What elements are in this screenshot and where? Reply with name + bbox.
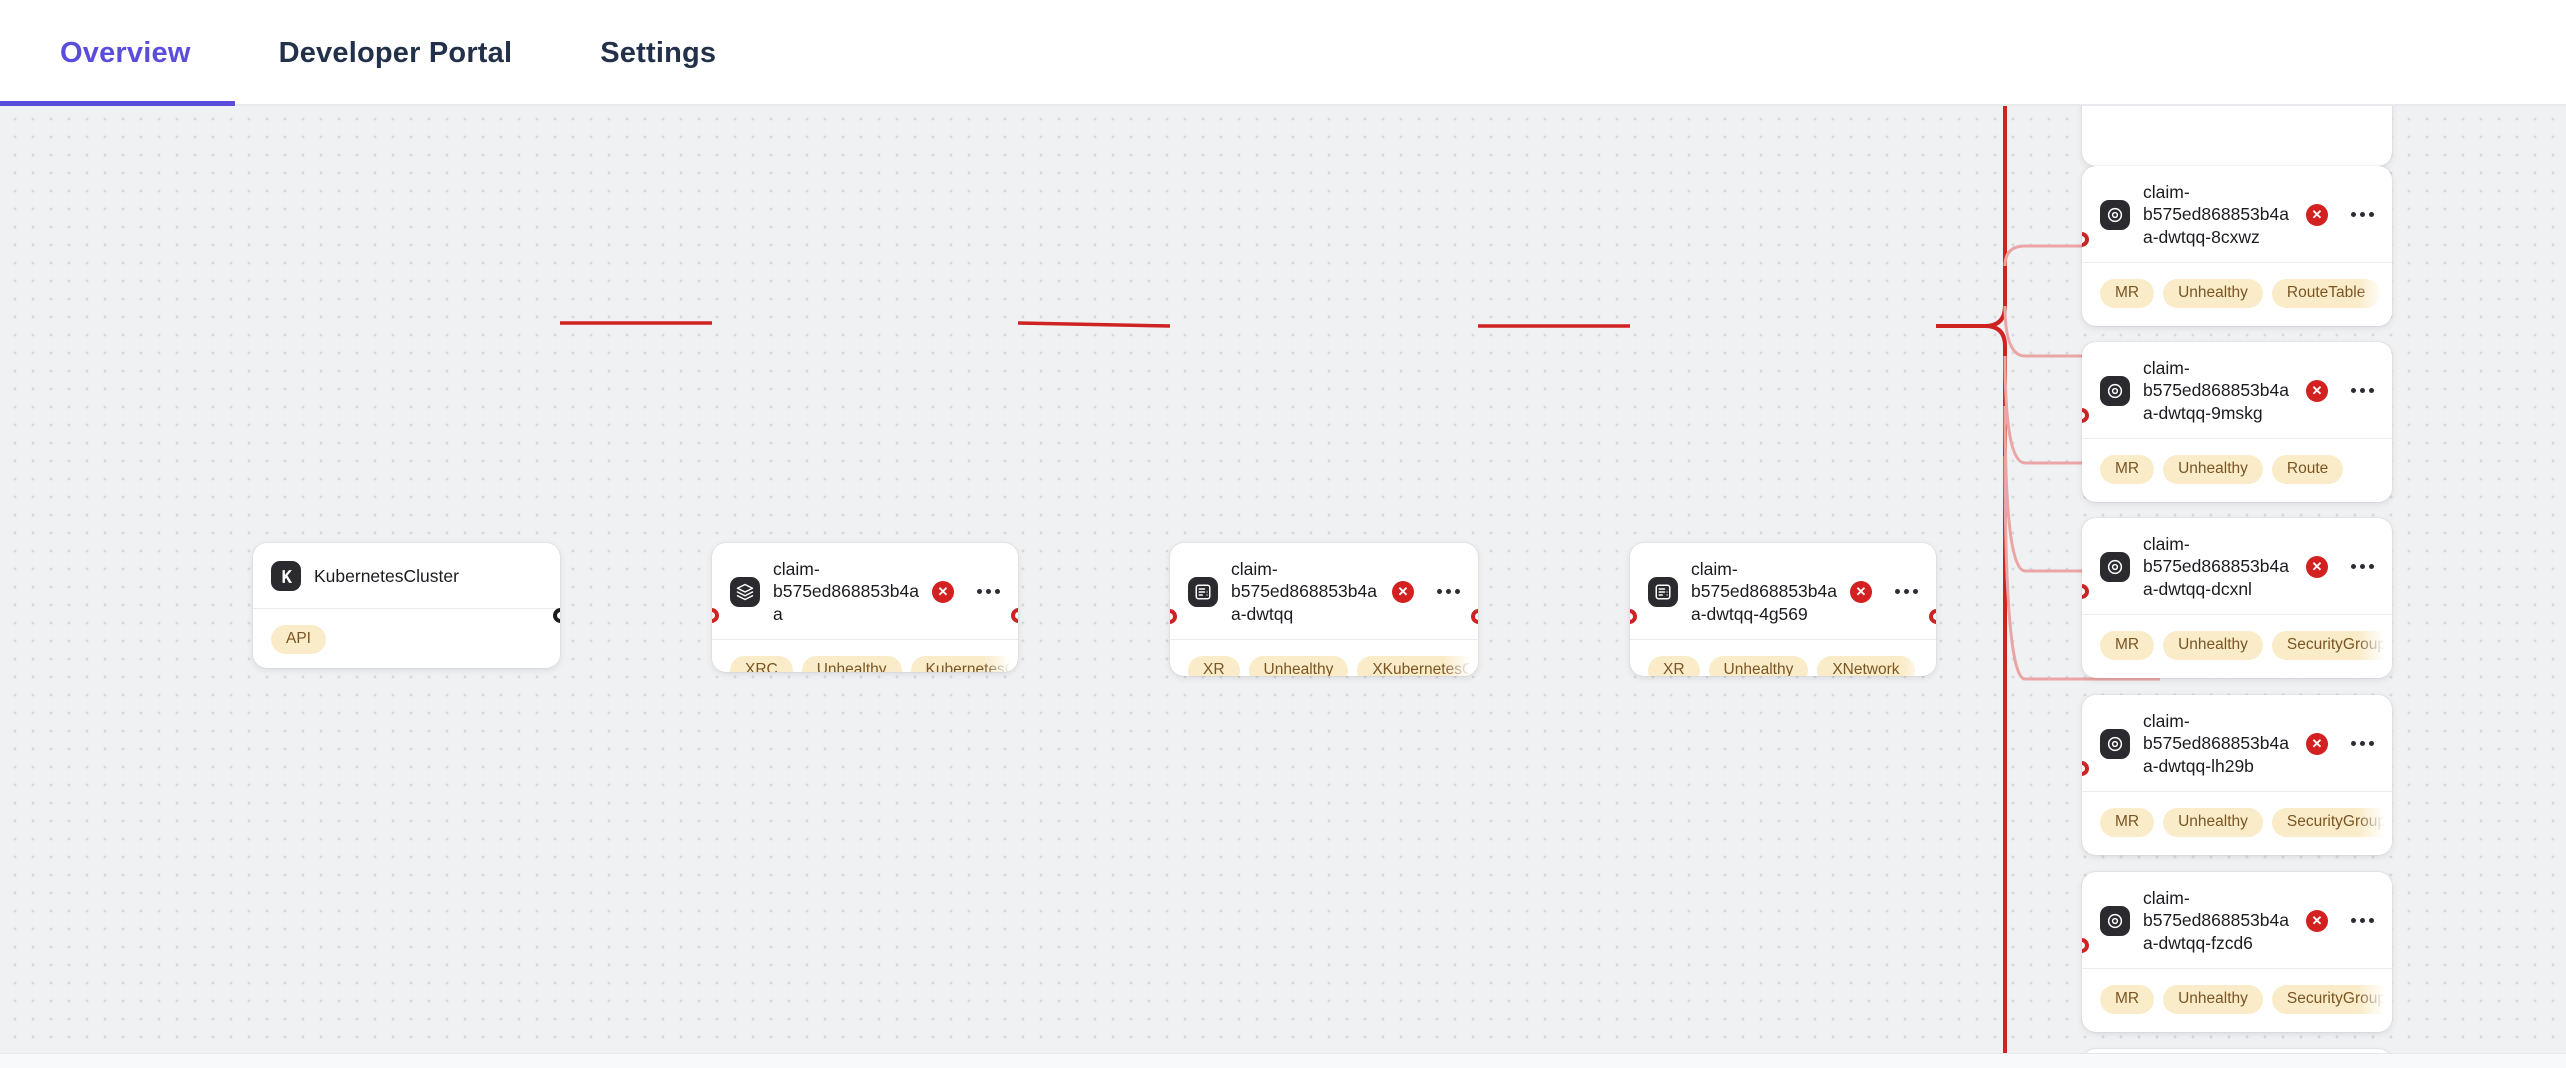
tab-developer-portal[interactable]: Developer Portal [235, 0, 557, 106]
node-menu-button[interactable] [967, 583, 1002, 600]
target-dot-icon [2100, 729, 2130, 759]
target-dot-icon [2100, 200, 2130, 230]
tab-settings[interactable]: Settings [556, 0, 760, 106]
error-badge[interactable]: ✕ [2306, 910, 2328, 932]
chip-type[interactable]: XKubernetesCluster [1357, 656, 1478, 676]
node-kubernetescluster[interactable]: KubernetesCluster API [253, 543, 560, 668]
node-title: claim-b575ed868853b4aa-dwtqq-dcxnl [2143, 533, 2293, 600]
node-menu-button[interactable] [2341, 382, 2376, 399]
node-header: claim-b575ed868853b4aa ✕ [712, 543, 1018, 640]
node-header: claim-b575ed868853b4aa-dwtqq-4g569 ✕ [1630, 543, 1936, 640]
node-menu-button[interactable] [2341, 912, 2376, 929]
node-claim-dwtqq-8cxwz[interactable]: claim-b575ed868853b4aa-dwtqq-8cxwz ✕ MR … [2082, 166, 2392, 326]
error-badge[interactable]: ✕ [1392, 581, 1414, 603]
chip-kind[interactable]: MR [2100, 455, 2154, 484]
node-header: claim-b575ed868853b4aa-dwtqq-8cxwz ✕ [2082, 166, 2392, 263]
main-tab-bar: Overview Developer Portal Settings [0, 0, 2566, 106]
node-claim-dwtqq-lh29b[interactable]: claim-b575ed868853b4aa-dwtqq-lh29b ✕ MR … [2082, 695, 2392, 855]
node-header: claim-b575ed868853b4aa-dwtqq-dcxnl ✕ [2082, 518, 2392, 615]
node-claim-dwtqq-fzcd6[interactable]: claim-b575ed868853b4aa-dwtqq-fzcd6 ✕ MR … [2082, 872, 2392, 1032]
chip-kind[interactable]: XR [1648, 656, 1700, 676]
tab-overview-label: Overview [60, 37, 191, 70]
chip-kind[interactable]: API [271, 625, 326, 654]
tab-settings-label: Settings [600, 37, 716, 70]
chip-status[interactable]: Unhealthy [2163, 631, 2263, 660]
chip-status[interactable]: Unhealthy [802, 656, 902, 672]
node-chips: XR Unhealthy XNetwork [1630, 640, 1936, 676]
node-chips: XR Unhealthy XKubernetesCluster [1170, 640, 1478, 676]
node-header: claim-b575ed868853b4aa-dwtqq-lh29b ✕ [2082, 695, 2392, 792]
node-chips: MR Unhealthy Route [2082, 439, 2392, 502]
chip-type[interactable]: Route [2272, 455, 2343, 484]
node-claim-b575ed868853b4aa[interactable]: claim-b575ed868853b4aa ✕ XRC Unhealthy K… [712, 543, 1018, 672]
chip-status[interactable]: Unhealthy [2163, 279, 2263, 308]
node-chips: MR Unhealthy SecurityGroupRule [2082, 792, 2392, 855]
node-claim-dwtqq-4g569[interactable]: claim-b575ed868853b4aa-dwtqq-4g569 ✕ XR … [1630, 543, 1936, 676]
chip-type[interactable]: SecurityGroupRule [2272, 808, 2392, 837]
chip-status[interactable]: Unhealthy [1249, 656, 1349, 676]
node-claim-dwtqq-9mskg[interactable]: claim-b575ed868853b4aa-dwtqq-9mskg ✕ MR … [2082, 342, 2392, 502]
target-dot-icon [2100, 552, 2130, 582]
node-chips: API [253, 609, 560, 668]
layers-icon [730, 577, 760, 607]
edge-trunk-up [1936, 106, 2005, 326]
error-badge[interactable]: ✕ [2306, 204, 2328, 226]
node-menu-button[interactable] [1427, 583, 1462, 600]
chip-kind[interactable]: MR [2100, 985, 2154, 1014]
chip-kind[interactable]: MR [2100, 808, 2154, 837]
chip-kind[interactable]: XRC [730, 656, 793, 672]
error-badge[interactable]: ✕ [1850, 581, 1872, 603]
node-claim-dwtqq[interactable]: claim-b575ed868853b4aa-dwtqq ✕ XR Unheal… [1170, 543, 1478, 676]
chip-kind[interactable]: XR [1188, 656, 1240, 676]
edge-chain-2 [1018, 323, 1170, 326]
node-menu-button[interactable] [1885, 583, 1920, 600]
chip-kind[interactable]: MR [2100, 631, 2154, 660]
node-chips: MR Unhealthy SecurityGroup [2082, 969, 2392, 1032]
error-badge[interactable]: ✕ [2306, 380, 2328, 402]
node-header: claim-b575ed868853b4aa-dwtqq-fzcd6 ✕ [2082, 872, 2392, 969]
tab-developer-portal-label: Developer Portal [279, 37, 513, 70]
error-badge[interactable]: ✕ [2306, 733, 2328, 755]
node-chips: XRC Unhealthy KubernetesCluster [712, 640, 1018, 672]
chip-status[interactable]: Unhealthy [2163, 455, 2263, 484]
chip-type[interactable]: RouteTable [2272, 279, 2380, 308]
list-icon [1188, 577, 1218, 607]
kubernetes-k-icon [271, 561, 301, 591]
edge-trunk-down [1936, 326, 2005, 1053]
node-title: claim-b575ed868853b4aa-dwtqq-4g569 [1691, 558, 1837, 625]
chip-type[interactable]: KubernetesCluster [911, 656, 1018, 672]
chip-type[interactable]: SecurityGroupRule [2272, 631, 2392, 660]
target-dot-icon [2100, 376, 2130, 406]
graph-canvas[interactable]: KubernetesCluster API claim-b575ed868853… [0, 106, 2566, 1053]
chip-status[interactable]: Unhealthy [1709, 656, 1809, 676]
chip-status[interactable]: Unhealthy [2163, 985, 2263, 1014]
node-title: claim-b575ed868853b4aa-dwtqq-8cxwz [2143, 181, 2293, 248]
tab-overview[interactable]: Overview [0, 0, 235, 106]
node-header: KubernetesCluster [253, 543, 560, 609]
error-badge[interactable]: ✕ [932, 581, 954, 603]
error-badge[interactable]: ✕ [2306, 556, 2328, 578]
node-claim-dwtqq-dcxnl[interactable]: claim-b575ed868853b4aa-dwtqq-dcxnl ✕ MR … [2082, 518, 2392, 678]
node-header: claim-b575ed868853b4aa-dwtqq ✕ [1170, 543, 1478, 640]
chip-type[interactable]: XNetwork [1817, 656, 1914, 676]
node-menu-button[interactable] [2341, 735, 2376, 752]
node-chips: MR Unhealthy RouteTable [2082, 263, 2392, 326]
target-dot-icon [2100, 906, 2130, 936]
chip-status[interactable]: Unhealthy [2163, 808, 2263, 837]
node-partial-top[interactable] [2082, 106, 2392, 166]
canvas-footer-strip [0, 1053, 2566, 1068]
node-chips: MR Unhealthy SecurityGroupRule [2082, 615, 2392, 678]
node-title: claim-b575ed868853b4aa-dwtqq [1231, 558, 1379, 625]
chip-type[interactable]: SecurityGroup [2272, 985, 2392, 1014]
node-title: claim-b575ed868853b4aa-dwtqq-fzcd6 [2143, 887, 2293, 954]
chip-kind[interactable]: MR [2100, 279, 2154, 308]
node-title: KubernetesCluster [314, 565, 544, 587]
node-menu-button[interactable] [2341, 206, 2376, 223]
node-title: claim-b575ed868853b4aa-dwtqq-lh29b [2143, 710, 2293, 777]
node-title: claim-b575ed868853b4aa [773, 558, 919, 625]
node-title: claim-b575ed868853b4aa-dwtqq-9mskg [2143, 357, 2293, 424]
node-menu-button[interactable] [2341, 558, 2376, 575]
list-icon [1648, 577, 1678, 607]
node-header: claim-b575ed868853b4aa-dwtqq-9mskg ✕ [2082, 342, 2392, 439]
